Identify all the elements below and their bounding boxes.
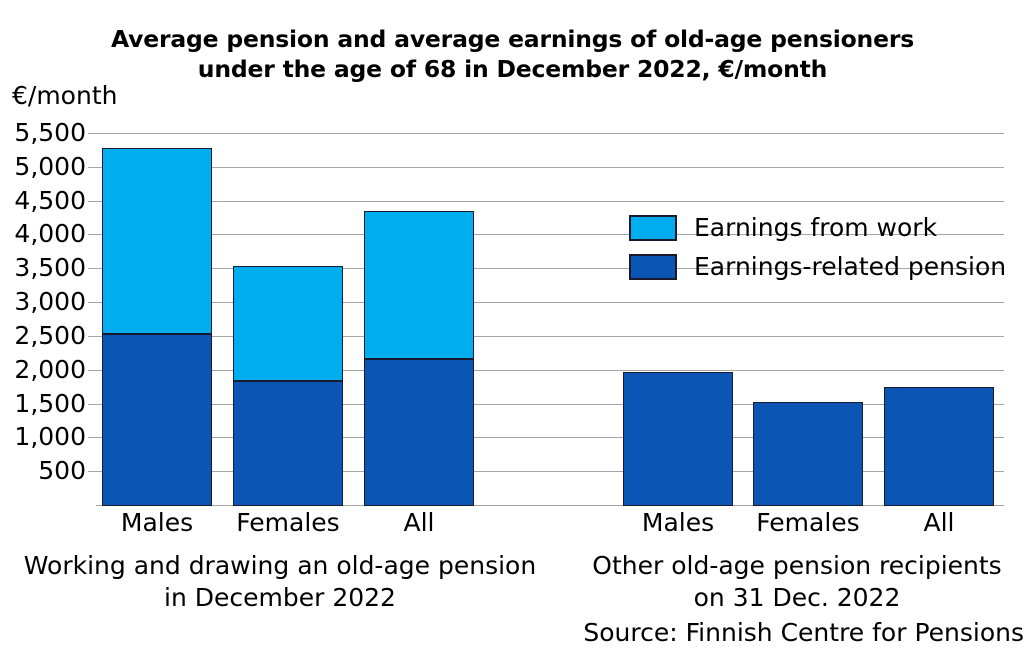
- y-axis-tick-label: 1,500: [0, 391, 86, 416]
- y-axis-tick-mark: [88, 404, 97, 405]
- bar-segment-earnings-related-pension: [233, 381, 343, 506]
- x-axis-category-label: All: [339, 509, 499, 537]
- chart-title-line-2: under the age of 68 in December 2022, €/…: [60, 54, 965, 84]
- group-caption-right-line-1: Other old-age pension recipients: [592, 551, 1001, 580]
- y-axis-unit-label: €/month: [12, 81, 117, 111]
- y-axis-tick-label: 3,500: [0, 255, 86, 280]
- y-axis-tick-label: 2,000: [0, 357, 86, 382]
- legend-item: Earnings-related pension: [629, 247, 1024, 286]
- source-note: Source: Finnish Centre for Pensions: [524, 618, 1024, 648]
- bar-segment-earnings-from-work: [233, 266, 343, 381]
- y-axis-tick-mark: [88, 133, 97, 134]
- y-axis-tick-mark: [88, 302, 97, 303]
- chart-title: Average pension and average earnings of …: [60, 24, 965, 84]
- bar-segment-earnings-related-pension: [102, 334, 212, 506]
- y-axis-tick-label: 3,000: [0, 289, 86, 314]
- plot-area: [96, 133, 1004, 505]
- x-axis-category-label: All: [859, 509, 1019, 537]
- y-axis-tick-label: 5,500: [0, 120, 86, 145]
- y-axis-tick-label: 500: [0, 458, 86, 483]
- chart-legend: Earnings from workEarnings-related pensi…: [629, 208, 1024, 286]
- y-axis-tick-mark: [88, 268, 97, 269]
- y-axis-tick-label: 4,000: [0, 221, 86, 246]
- bar-segment-earnings-related-pension: [884, 387, 994, 506]
- group-caption-left-line-1: Working and drawing an old-age pension: [24, 551, 536, 580]
- legend-item-label: Earnings-related pension: [694, 253, 1006, 281]
- bar-segment-earnings-from-work: [364, 211, 474, 359]
- group-caption-left-line-2: in December 2022: [164, 583, 396, 612]
- gridline: [96, 133, 1004, 134]
- bar-segment-earnings-from-work: [102, 148, 212, 334]
- group-caption-left: Working and drawing an old-age pension i…: [6, 550, 554, 614]
- gridline: [96, 201, 1004, 202]
- y-axis-tick-label: 4,500: [0, 188, 86, 213]
- y-axis-tick-mark: [88, 201, 97, 202]
- y-axis-tick-mark: [88, 167, 97, 168]
- y-axis-tick-mark: [88, 336, 97, 337]
- y-axis-tick-label: 1,000: [0, 424, 86, 449]
- y-axis-tick-label: 5,000: [0, 154, 86, 179]
- y-axis-tick-mark: [88, 370, 97, 371]
- legend-item: Earnings from work: [629, 208, 1024, 247]
- bar-segment-earnings-related-pension: [364, 359, 474, 506]
- y-axis-tick-mark: [88, 471, 97, 472]
- bar-segment-earnings-related-pension: [753, 402, 863, 506]
- y-axis-tick-mark: [88, 437, 97, 438]
- bar-segment-earnings-related-pension: [623, 372, 733, 506]
- group-caption-right-line-2: on 31 Dec. 2022: [694, 583, 901, 612]
- gridline: [96, 167, 1004, 168]
- legend-color-swatch: [629, 215, 677, 241]
- legend-color-swatch: [629, 254, 677, 280]
- group-caption-right: Other old-age pension recipients on 31 D…: [570, 550, 1024, 614]
- legend-item-label: Earnings from work: [694, 214, 937, 242]
- chart-title-line-1: Average pension and average earnings of …: [111, 25, 914, 53]
- y-axis-tick-labels: 5,5005,0004,5004,0003,5003,0002,5002,000…: [0, 133, 88, 505]
- chart-container: Average pension and average earnings of …: [0, 0, 1024, 656]
- y-axis-tick-mark: [88, 234, 97, 235]
- y-axis-tick-label: 2,500: [0, 323, 86, 348]
